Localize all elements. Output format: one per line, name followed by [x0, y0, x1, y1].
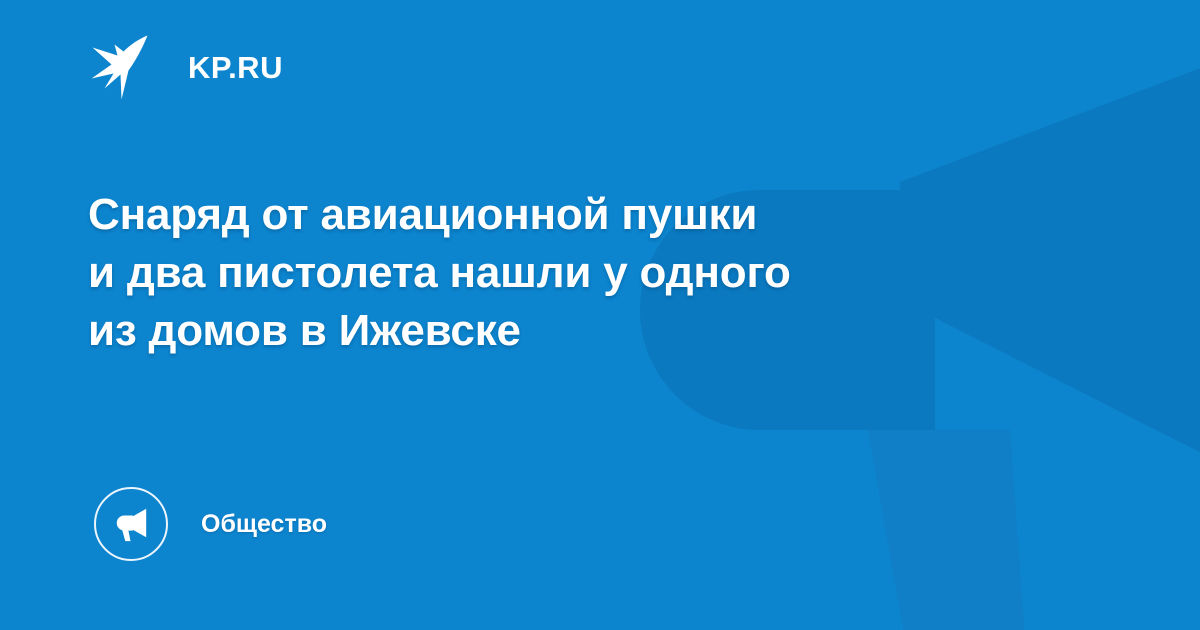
category-icon-circle [94, 487, 168, 561]
brand-name: KP.RU [188, 52, 283, 83]
page-title: Снаряд от авиационной пушки и два пистол… [88, 186, 1088, 360]
swallow-bird-logo-icon [90, 34, 152, 100]
brand-header[interactable]: KP.RU [90, 32, 283, 102]
social-share-card: KP.RU Снаряд от авиационной пушки и два … [0, 0, 1200, 630]
category-label: Общество [201, 512, 327, 537]
headline-line-3: из домов в Ижевске [88, 302, 1088, 360]
megaphone-watermark-handle [868, 430, 1025, 630]
headline-line-1: Снаряд от авиационной пушки [88, 186, 1088, 244]
megaphone-icon [112, 505, 150, 543]
headline-line-2: и два пистолета нашли у одного [88, 244, 1088, 302]
category-badge[interactable]: Общество [94, 487, 327, 561]
